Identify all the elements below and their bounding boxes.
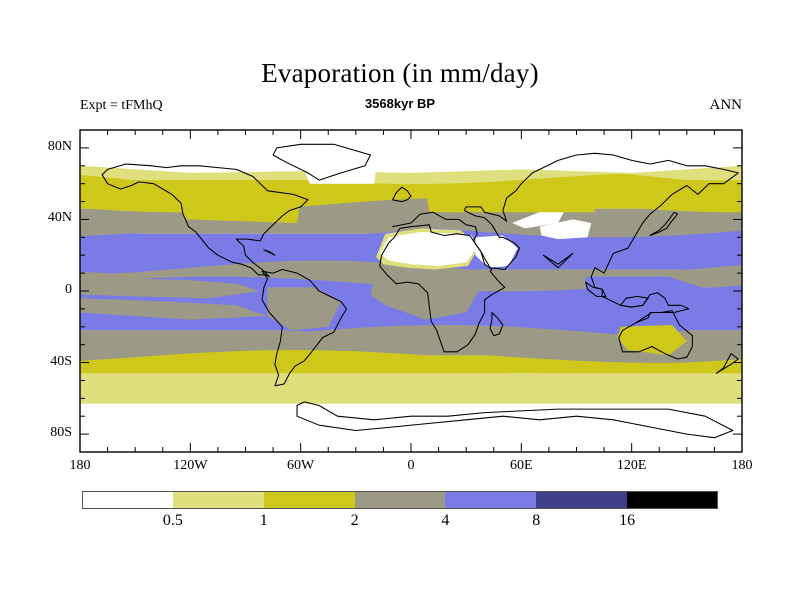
evaporation-map-figure: Evaporation (in mm/day) 3568kyr BP Expt … [0, 0, 800, 600]
y-axis-label: 80N [20, 139, 72, 155]
x-axis-label: 120E [592, 458, 672, 474]
world-map-plot [0, 0, 800, 600]
colorbar-tick-label: 4 [415, 512, 475, 530]
eurasia-olive-region [426, 187, 595, 212]
y-axis-label: 0 [20, 282, 72, 298]
y-axis-label: 40S [20, 354, 72, 370]
colorbar-tick-label: 2 [325, 512, 385, 530]
x-axis-label: 60E [481, 458, 561, 474]
x-axis-label: 180 [702, 458, 782, 474]
north-america-olive-region [176, 198, 301, 223]
colorbar-segment [627, 491, 718, 509]
x-axis-label: 0 [371, 458, 451, 474]
x-axis-label: 180 [40, 458, 120, 474]
y-axis-label: 80S [20, 425, 72, 441]
colorbar [82, 491, 718, 509]
colorbar-segment [355, 491, 446, 509]
y-axis-label: 40N [20, 210, 72, 226]
colorbar-tick-label: 1 [234, 512, 294, 530]
x-axis-label: 120W [150, 458, 230, 474]
colorbar-segment [82, 491, 173, 509]
colorbar-segment [173, 491, 264, 509]
colorbar-tick-label: 16 [597, 512, 657, 530]
x-axis-label: 60W [261, 458, 341, 474]
colorbar-tick-label: 8 [506, 512, 566, 530]
colorbar-segment [536, 491, 627, 509]
colorbar-segment [264, 491, 355, 509]
colorbar-segment [445, 491, 536, 509]
colorbar-tick-label: 0.5 [143, 512, 203, 530]
